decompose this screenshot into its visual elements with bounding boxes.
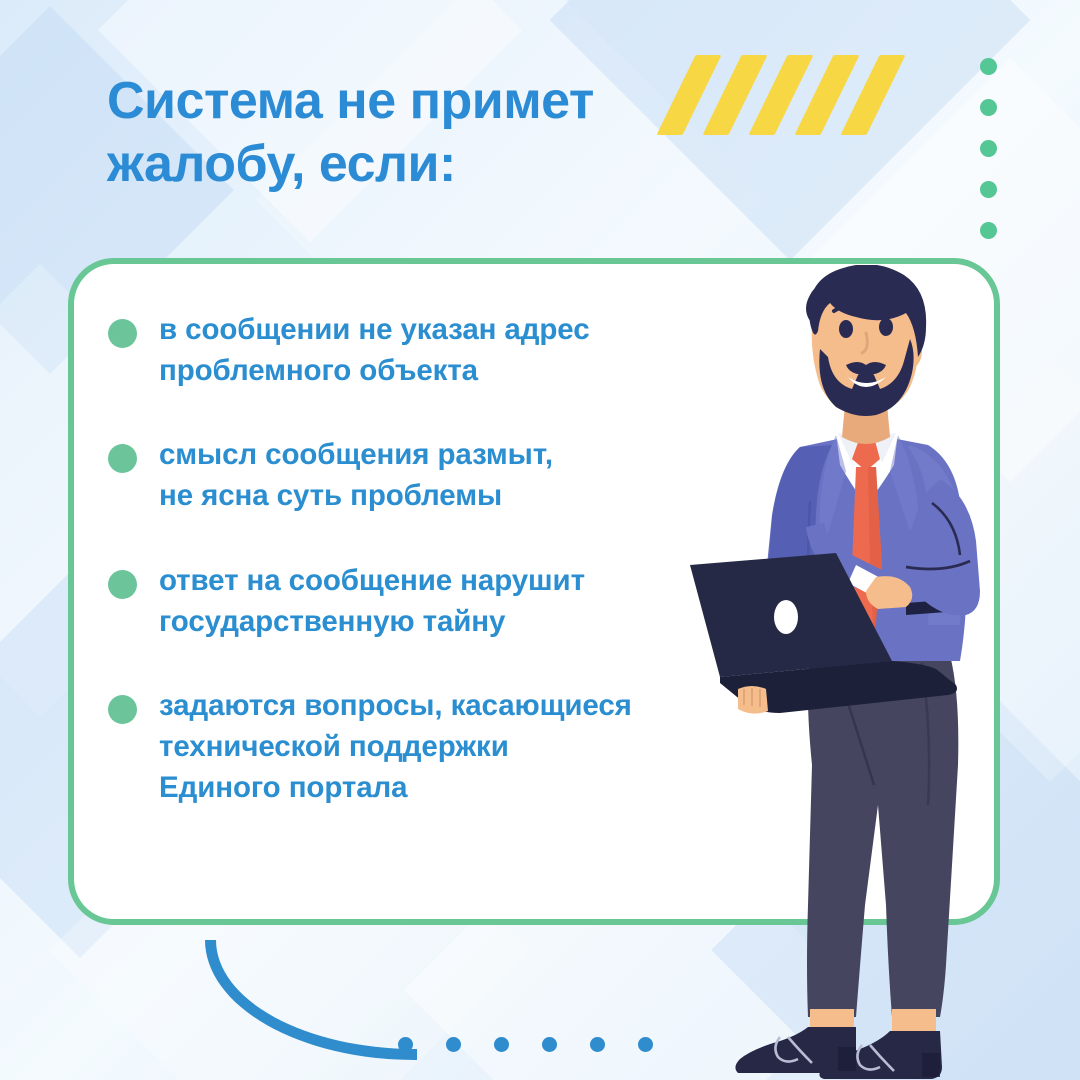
green-dot (980, 181, 997, 198)
green-dot (980, 58, 997, 75)
bullet-text: задаются вопросы, касающиеся технической… (159, 686, 632, 808)
blue-dot (590, 1037, 605, 1052)
blue-dot (494, 1037, 509, 1052)
ankle (892, 1009, 936, 1031)
list-item: смысл сообщения размыт, не ясна суть про… (108, 435, 728, 516)
bullet-text: в сообщении не указан адрес проблемного … (159, 310, 590, 391)
bullet-dot-icon (108, 319, 137, 348)
laptop-logo-icon (774, 600, 798, 634)
trousers (807, 655, 958, 1017)
list-item: ответ на сообщение нарушит государственн… (108, 561, 728, 642)
blue-dot (638, 1037, 653, 1052)
shoe-heel (922, 1053, 940, 1077)
green-dot (980, 222, 997, 239)
blue-dot (446, 1037, 461, 1052)
eye-right (879, 318, 893, 336)
green-dot-column (980, 58, 997, 263)
page-title: Система не примет жалобу, если: (107, 70, 707, 197)
blue-dot-row (398, 1037, 653, 1052)
eye-left (839, 320, 853, 338)
bullet-dot-icon (108, 444, 137, 473)
diagonal-stripes (676, 55, 916, 135)
bullet-text: смысл сообщения размыт, не ясна суть про… (159, 435, 553, 516)
list-item: в сообщении не указан адрес проблемного … (108, 310, 728, 391)
man-with-laptop-illustration (660, 265, 1080, 1080)
blue-dot (398, 1037, 413, 1052)
bullet-text: ответ на сообщение нарушит государственн… (159, 561, 585, 642)
blue-dot (542, 1037, 557, 1052)
bullet-dot-icon (108, 695, 137, 724)
bullet-dot-icon (108, 570, 137, 599)
green-dot (980, 140, 997, 157)
bullet-list: в сообщении не указан адрес проблемного … (108, 310, 728, 808)
list-item: задаются вопросы, касающиеся технической… (108, 686, 728, 808)
shoe-heel (838, 1047, 856, 1071)
green-dot (980, 99, 997, 116)
